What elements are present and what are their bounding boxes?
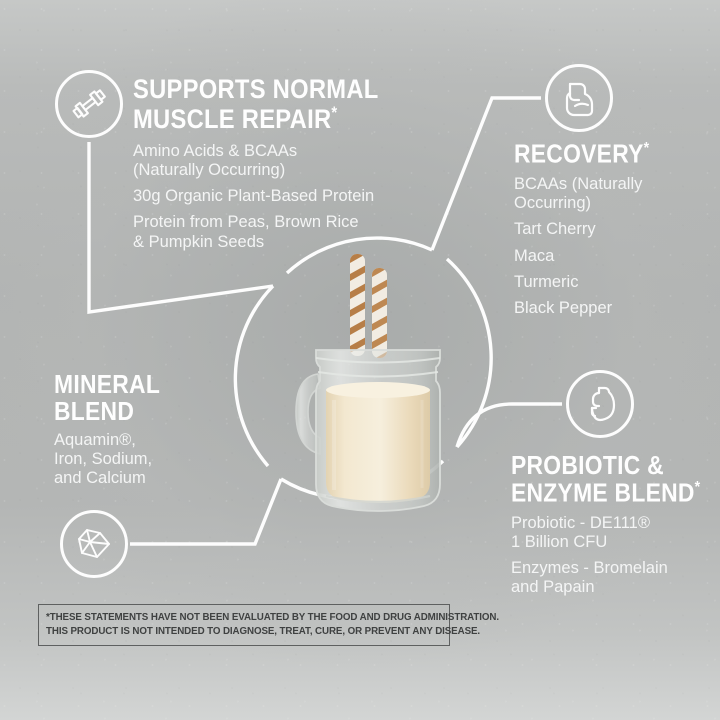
block-recovery: RECOVERY* BCAAs (Naturally Occurring) Ta…: [514, 140, 668, 318]
block-probiotic-enzyme-blend: PROBIOTIC & ENZYME BLEND* Probiotic - DE…: [511, 452, 720, 597]
body-group: 30g Organic Plant-Based Protein: [133, 187, 412, 206]
body-line: Occurring): [514, 194, 668, 213]
stomach-icon: [580, 384, 620, 424]
jar-body: [316, 350, 440, 511]
body-line: Black Pepper: [514, 299, 668, 318]
hub-arc-right: [447, 259, 491, 447]
body-recovery: BCAAs (Naturally Occurring) Tart Cherry …: [514, 175, 668, 318]
heading-recovery: RECOVERY*: [514, 140, 649, 167]
block-mineral-blend: MINERAL BLEND Aquamin®, Iron, Sodium, an…: [54, 371, 175, 488]
body-line: Turmeric: [514, 273, 668, 292]
heading-probiotic-line2: ENZYME BLEND*: [511, 479, 700, 506]
body-line: Iron, Sodium,: [54, 450, 175, 469]
body-group: Turmeric: [514, 273, 668, 292]
body-line: Amino Acids & BCAAs: [133, 142, 412, 161]
asterisk-mark: *: [644, 139, 650, 157]
heading-muscle-repair-line1: SUPPORTS NORMAL: [133, 76, 379, 104]
body-group: Tart Cherry: [514, 220, 668, 239]
disclaimer-line-1: *THESE STATEMENTS HAVE NOT BEEN EVALUATE…: [46, 610, 414, 624]
body-group: Protein from Peas, Brown Rice & Pumpkin …: [133, 213, 412, 251]
body-group: Black Pepper: [514, 299, 668, 318]
heading-text: RECOVERY: [514, 139, 644, 169]
body-line: and Papain: [511, 578, 720, 597]
gem-crystal-icon-badge[interactable]: [60, 510, 128, 578]
asterisk-mark: *: [695, 478, 701, 496]
heading-text: ENZYME BLEND: [511, 477, 695, 507]
heading-text: MUSCLE REPAIR: [133, 104, 331, 134]
block-muscle-repair: SUPPORTS NORMAL MUSCLE REPAIR* Amino Aci…: [133, 76, 412, 252]
infographic-canvas: SUPPORTS NORMAL MUSCLE REPAIR* Amino Aci…: [0, 0, 720, 720]
line-mineral-blend: [130, 479, 281, 544]
body-line: Probiotic - DE111®: [511, 514, 720, 533]
dumbbell-icon: [69, 84, 109, 124]
heading-mineral-blend-line1: MINERAL: [54, 371, 160, 398]
body-muscle-repair: Amino Acids & BCAAs (Naturally Occurring…: [133, 142, 412, 252]
flexed-bicep-icon: [558, 77, 600, 119]
smoothie-jar-image: [290, 250, 450, 540]
body-mineral-blend: Aquamin®, Iron, Sodium, and Calcium: [54, 431, 175, 488]
body-probiotic-enzyme: Probiotic - DE111® 1 Billion CFU Enzymes…: [511, 514, 720, 598]
disclaimer-line-2: THIS PRODUCT IS NOT INTENDED TO DIAGNOSE…: [46, 624, 414, 638]
body-line: 1 Billion CFU: [511, 533, 720, 552]
body-group: Maca: [514, 247, 668, 266]
body-group: BCAAs (Naturally Occurring): [514, 175, 668, 213]
body-line: Aquamin®,: [54, 431, 175, 450]
body-group: Aquamin®, Iron, Sodium, and Calcium: [54, 431, 175, 488]
heading-mineral-blend-line2: BLEND: [54, 398, 160, 425]
hub-arc-left: [235, 286, 273, 466]
body-line: and Calcium: [54, 469, 175, 488]
body-group: Amino Acids & BCAAs (Naturally Occurring…: [133, 142, 412, 180]
body-line: Enzymes - Bromelain: [511, 559, 720, 578]
fda-disclaimer-box: *THESE STATEMENTS HAVE NOT BEEN EVALUATE…: [38, 604, 450, 646]
body-line: & Pumpkin Seeds: [133, 233, 412, 252]
body-group: Probiotic - DE111® 1 Billion CFU: [511, 514, 720, 552]
asterisk-mark: *: [331, 103, 337, 122]
body-line: Tart Cherry: [514, 220, 668, 239]
body-line: Maca: [514, 247, 668, 266]
heading-probiotic-line1: PROBIOTIC &: [511, 452, 700, 479]
body-group: Enzymes - Bromelain and Papain: [511, 559, 720, 597]
heading-muscle-repair-line2: MUSCLE REPAIR*: [133, 104, 379, 134]
stomach-icon-badge[interactable]: [566, 370, 634, 438]
body-line: Protein from Peas, Brown Rice: [133, 213, 412, 232]
mason-jar-graphic: [290, 250, 450, 540]
dumbbell-icon-badge[interactable]: [55, 70, 123, 138]
line-probiotic-enzyme: [457, 404, 562, 447]
body-line: BCAAs (Naturally: [514, 175, 668, 194]
body-line: (Naturally Occurring): [133, 161, 412, 180]
flexed-bicep-icon-badge[interactable]: [545, 64, 613, 132]
body-line: 30g Organic Plant-Based Protein: [133, 187, 412, 206]
gem-crystal-icon: [73, 523, 115, 565]
